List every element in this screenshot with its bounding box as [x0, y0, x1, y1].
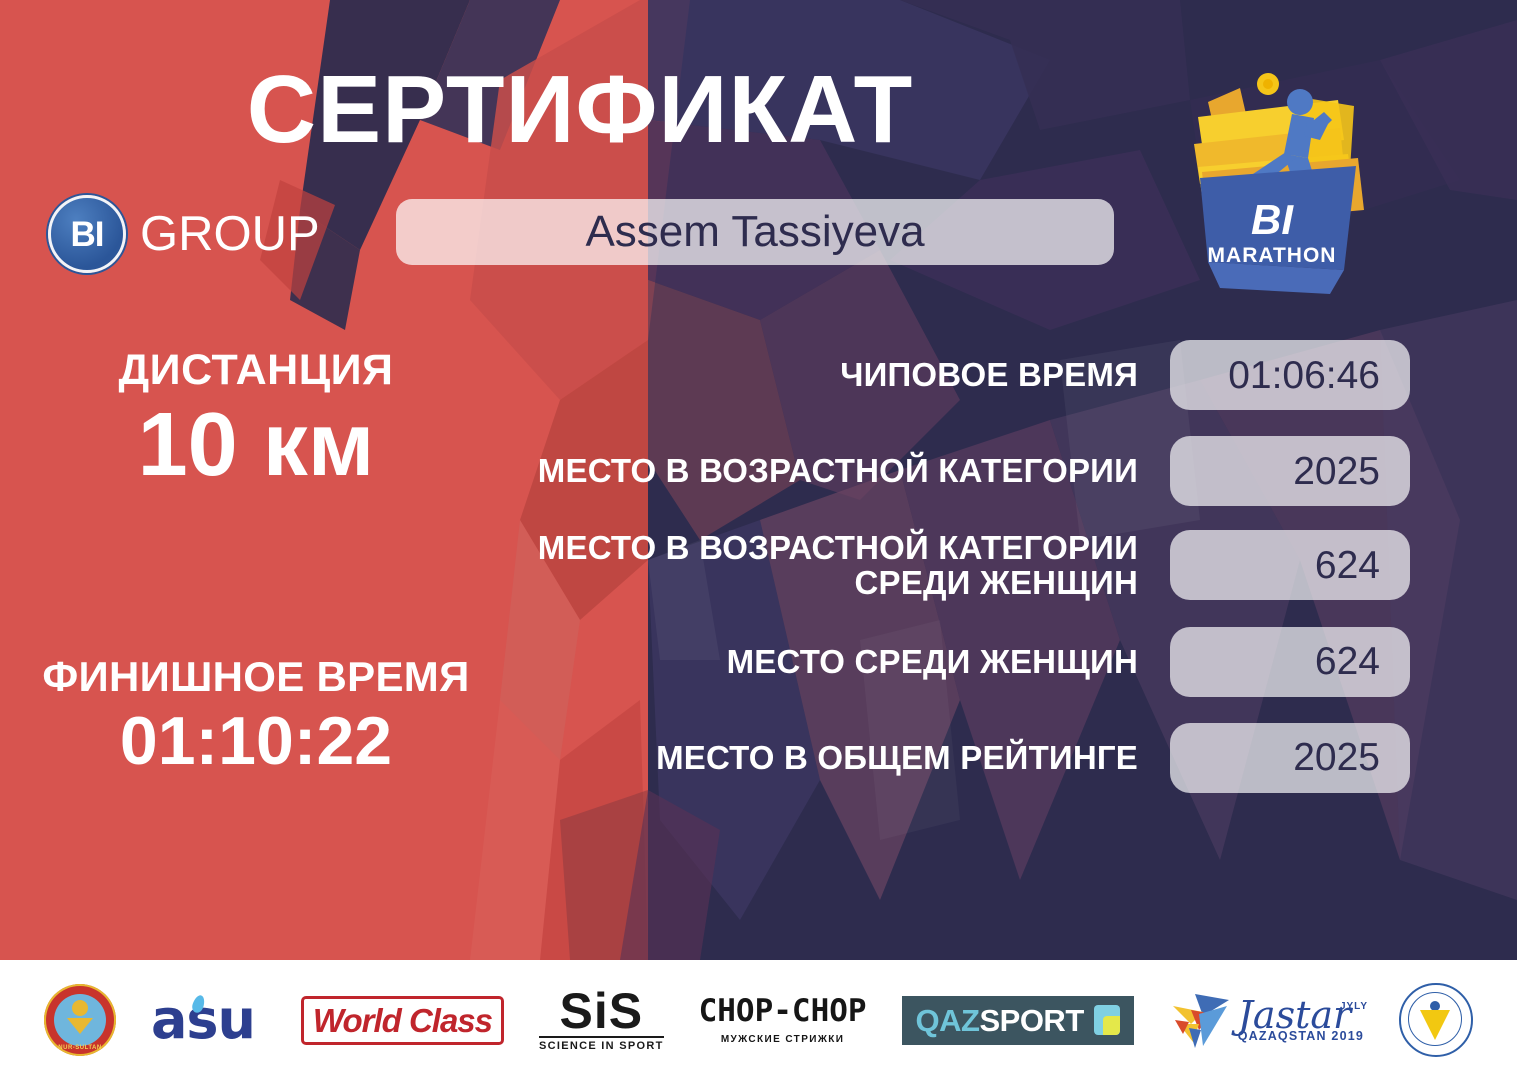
stat-label: МЕСТО В ВОЗРАСТНОЙ КАТЕГОРИИ СРЕДИ ЖЕНЩИ… [520, 530, 1170, 601]
sponsor-asu: asu [151, 993, 266, 1047]
distance-value: 10 км [0, 397, 512, 494]
stat-value: 2025 [1293, 738, 1380, 777]
stats-list: ЧИПОВОЕ ВРЕМЯ 01:06:46 МЕСТО В ВОЗРАСТНО… [520, 340, 1410, 815]
nur-sultan-label: NUR-SULTAN [44, 1045, 116, 1051]
jastar-logo: Jastar JYLY QAZAQSTAN 2019 [1169, 990, 1364, 1050]
bi-badge-label: BI [71, 217, 104, 252]
stat-row: ЧИПОВОЕ ВРЕМЯ 01:06:46 [520, 340, 1410, 410]
qazsport-logo: QAZSPORT [902, 996, 1134, 1045]
chop-chop-logo: CHOP-CHOP МУЖСКИЕ СТРИЖКИ [699, 996, 867, 1045]
bi-badge-icon: BI [48, 195, 126, 273]
stat-label: МЕСТО В ВОЗРАСТНОЙ КАТЕГОРИИ [520, 453, 1170, 488]
page-title: СЕРТИФИКАТ [0, 62, 1160, 158]
bi-group-logo: BI GROUP [48, 195, 320, 273]
sponsor-jastar: Jastar JYLY QAZAQSTAN 2019 [1169, 990, 1364, 1050]
sponsor-chop-chop: CHOP-CHOP МУЖСКИЕ СТРИЖКИ [699, 996, 867, 1045]
qazsport-text-a: QAZ [916, 1003, 980, 1038]
stat-row: МЕСТО В ВОЗРАСТНОЙ КАТЕГОРИИ СРЕДИ ЖЕНЩИ… [520, 530, 1410, 601]
certificate: СЕРТИФИКАТ BI GROUP Assem Tassiyeva [0, 0, 1517, 1080]
participant-name-field: Assem Tassiyeva [396, 199, 1114, 265]
nur-sultan-emblem-icon: NUR-SULTAN [44, 984, 116, 1056]
finish-time-value: 01:10:22 [0, 704, 512, 779]
qazsport-mark-icon [1094, 1005, 1120, 1035]
stat-value-pill: 2025 [1170, 436, 1410, 506]
stat-label: ЧИПОВОЕ ВРЕМЯ [520, 357, 1170, 392]
sponsor-bar: NUR-SULTAN asu World Class SiS SCIENCE I… [0, 960, 1517, 1080]
stat-value: 2025 [1293, 452, 1380, 491]
chop-chop-subtitle: МУЖСКИЕ СТРИЖКИ [699, 1034, 867, 1045]
stat-row: МЕСТО В ОБЩЕМ РЕЙТИНГЕ 2025 [520, 723, 1410, 793]
stat-value: 624 [1315, 546, 1380, 585]
stat-value-pill: 2025 [1170, 723, 1410, 793]
participant-name: Assem Tassiyeva [585, 210, 924, 254]
stat-label: МЕСТО СРЕДИ ЖЕНЩИН [520, 644, 1170, 679]
jastar-superscript: JYLY [1340, 1001, 1368, 1012]
stat-value-pill: 624 [1170, 530, 1410, 600]
ministry-emblem-icon [1399, 983, 1473, 1057]
finish-time-label: ФИНИШНОЕ ВРЕМЯ [0, 655, 512, 700]
world-class-text: World Class [313, 1004, 492, 1037]
stat-value: 01:06:46 [1228, 356, 1380, 395]
bi-marathon-word-text: MARATHON [1208, 244, 1337, 267]
bi-group-word: GROUP [140, 210, 320, 259]
sponsor-ministry [1399, 983, 1473, 1057]
sis-logo: SiS SCIENCE IN SPORT [539, 988, 664, 1052]
stat-row: МЕСТО СРЕДИ ЖЕНЩИН 624 [520, 627, 1410, 697]
jastar-wordmark: Jastar JYLY QAZAQSTAN 2019 [1238, 997, 1364, 1043]
distance-block: ДИСТАНЦИЯ 10 км [0, 348, 512, 494]
qazsport-text-b: SPORT [979, 1003, 1083, 1038]
distance-label: ДИСТАНЦИЯ [0, 348, 512, 393]
bi-marathon-logo: BI MARATHON [1168, 62, 1383, 312]
jastar-subtitle: QAZAQSTAN 2019 [1238, 1029, 1364, 1043]
sponsor-world-class: World Class [301, 996, 504, 1045]
jastar-bird-icon [1169, 990, 1231, 1050]
finish-time-block: ФИНИШНОЕ ВРЕМЯ 01:10:22 [0, 655, 512, 778]
sis-text: SiS [539, 988, 664, 1034]
chop-chop-text: CHOP-CHOP [699, 996, 867, 1027]
bi-marathon-bi-text: BI [1251, 196, 1294, 243]
sponsor-sis: SiS SCIENCE IN SPORT [539, 988, 664, 1052]
qazsport-text: QAZSPORT [916, 1005, 1084, 1036]
stat-row: МЕСТО В ВОЗРАСТНОЙ КАТЕГОРИИ 2025 [520, 436, 1410, 506]
sponsor-qazsport: QAZSPORT [902, 996, 1134, 1045]
sponsor-nur-sultan: NUR-SULTAN [44, 984, 116, 1056]
stat-value-pill: 624 [1170, 627, 1410, 697]
stat-value-pill: 01:06:46 [1170, 340, 1410, 410]
stat-value: 624 [1315, 642, 1380, 681]
world-class-logo: World Class [301, 996, 504, 1045]
stat-label: МЕСТО В ОБЩЕМ РЕЙТИНГЕ [520, 740, 1170, 775]
